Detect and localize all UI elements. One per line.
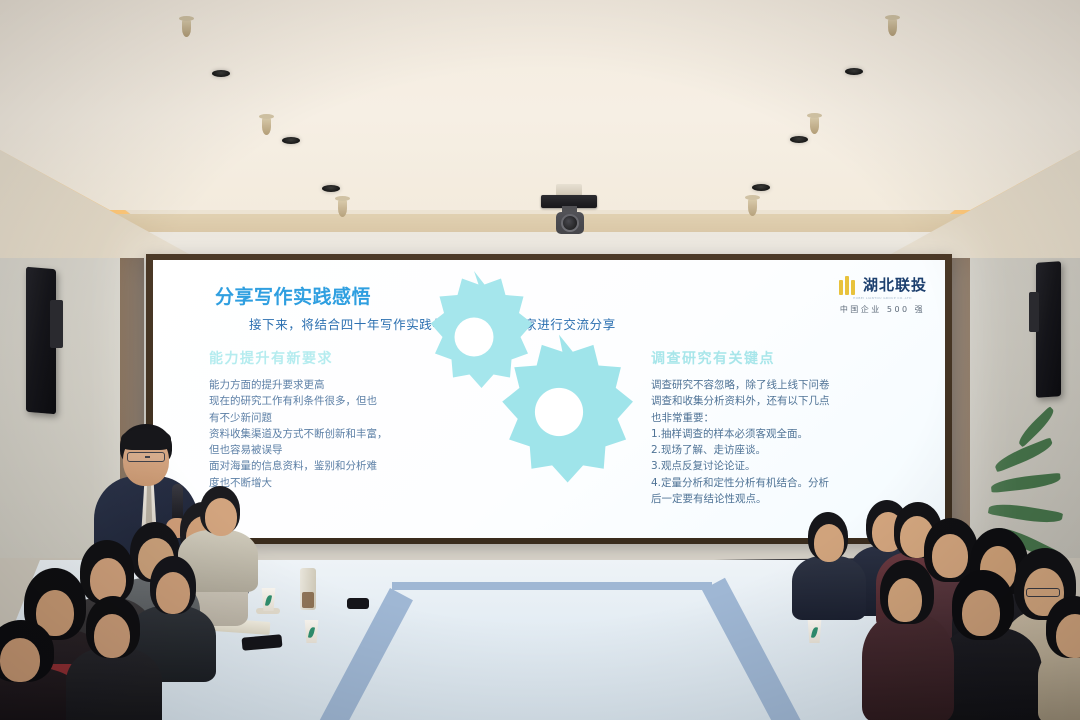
- logo-award-text: 中国企业 500 强: [838, 304, 927, 315]
- left-line: 有不少新问题: [209, 410, 459, 426]
- left-line: 资料收集渠道及方式不断创新和丰富，: [209, 426, 459, 442]
- projection-screen[interactable]: 分享写作实践感悟 湖北联投 HUBEI LIANTOU GROUP CO.,LT…: [153, 260, 945, 538]
- audience-member: [792, 512, 866, 616]
- audience-head: [962, 590, 1000, 636]
- phone: [347, 598, 369, 609]
- right-line: 4.定量分析和定性分析有机结合。分析: [651, 475, 913, 491]
- audience-member: [1038, 596, 1080, 720]
- audience-head: [0, 638, 40, 682]
- slide-right-column: 调查研究有关键点 调查研究不容忽略，除了线上线下问卷 调查和收集分析资料外，还有…: [651, 348, 913, 507]
- right-column-heading: 调查研究有关键点: [651, 348, 913, 368]
- left-line: 面对海量的信息资料，鉴别和分析难: [209, 458, 459, 474]
- audience-member: [66, 596, 162, 720]
- audience-body: [792, 556, 866, 620]
- logo-company-name: 湖北联投: [863, 274, 927, 295]
- slide-title: 分享写作实践感悟: [215, 282, 371, 309]
- left-column-body: 能力方面的提升要求更高 现在的研究工作有利条件很多，但也 有不少新问题 资料收集…: [209, 377, 459, 491]
- downlight-icon: [752, 184, 770, 191]
- audience-head: [94, 614, 130, 658]
- logo-mark-icon: [838, 275, 858, 295]
- speaker-bracket-right: [1029, 292, 1039, 332]
- downlight-icon: [790, 136, 808, 143]
- right-line: 1.抽样调查的样本必须客观全面。: [651, 426, 913, 442]
- right-column-body: 调查研究不容忽略，除了线上线下问卷 调查和收集分析资料外，还有以下几点 也非常重…: [651, 377, 913, 507]
- water-bottle: [300, 568, 316, 610]
- left-line: 现在的研究工作有利条件很多，但也: [209, 393, 459, 409]
- presenter-hair-front: [121, 428, 171, 450]
- sprinkler-icon: [810, 117, 819, 134]
- left-line: 但也容易被误导: [209, 442, 459, 458]
- audience-body: [862, 614, 954, 720]
- logo-company-name-en: HUBEI LIANTOU GROUP CO.,LTD: [838, 296, 927, 300]
- sprinkler-icon: [748, 199, 757, 216]
- camera-lens-icon: [561, 214, 579, 232]
- downlight-icon: [322, 185, 340, 192]
- slide-left-column: 能力提升有新要求 能力方面的提升要求更高 现在的研究工作有利条件很多，但也 有不…: [209, 348, 459, 491]
- glasses-bridge: [145, 456, 150, 458]
- audience-head: [814, 524, 844, 562]
- speaker-bracket-left: [50, 300, 63, 348]
- downlight-icon: [845, 68, 863, 75]
- right-line: 调查和收集分析资料外，还有以下几点: [651, 393, 913, 409]
- audience-head: [205, 498, 237, 536]
- right-line: 2.现场了解、走访座谈。: [651, 442, 913, 458]
- right-line: 也非常重要：: [651, 410, 913, 426]
- sprinkler-icon: [338, 200, 347, 217]
- gear-icon-lower: [473, 326, 645, 498]
- sprinkler-icon: [888, 19, 897, 36]
- downlight-icon: [212, 70, 230, 77]
- sprinkler-icon: [182, 20, 191, 37]
- downlight-icon: [282, 137, 300, 144]
- conference-room-scene: 分享写作实践感悟 湖北联投 HUBEI LIANTOU GROUP CO.,LT…: [0, 0, 1080, 720]
- left-line: 能力方面的提升要求更高: [209, 377, 459, 393]
- presentation-slide: 分享写作实践感悟 湖北联投 HUBEI LIANTOU GROUP CO.,LT…: [153, 260, 945, 538]
- left-column-heading: 能力提升有新要求: [209, 348, 459, 368]
- sprinkler-icon: [262, 118, 271, 135]
- projection-screen-frame: 分享写作实践感悟 湖北联投 HUBEI LIANTOU GROUP CO.,LT…: [146, 254, 952, 544]
- wall-speaker-right: [1036, 261, 1061, 398]
- audience-member: [862, 560, 954, 720]
- company-logo: 湖北联投 HUBEI LIANTOU GROUP CO.,LTD 中国企业 50…: [838, 274, 927, 315]
- ceiling-inner-panel: [0, 0, 1080, 210]
- audience-body: [66, 648, 162, 720]
- table-inlay-top-edge: [392, 582, 712, 590]
- right-line: 3.观点反复讨论论证。: [651, 458, 913, 474]
- audience-head: [888, 578, 922, 622]
- right-line: 调查研究不容忽略，除了线上线下问卷: [651, 377, 913, 393]
